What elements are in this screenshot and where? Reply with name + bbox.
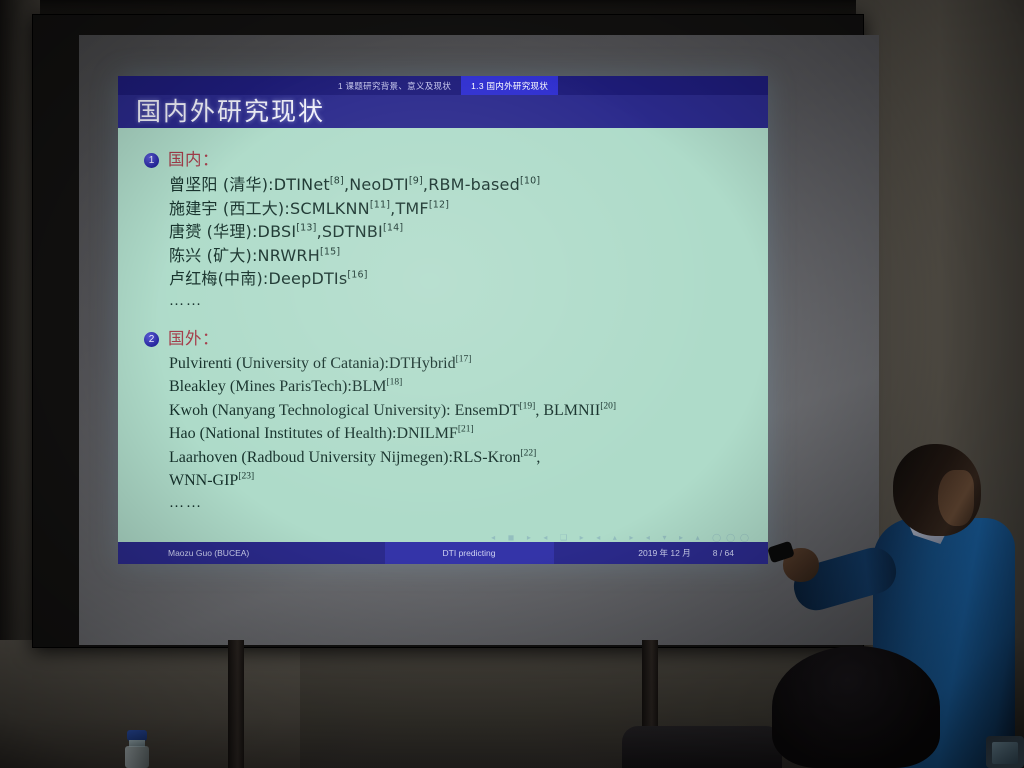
list-item: 施建宇 (西工大):SCMLKNN[11],TMF[12]	[169, 197, 748, 221]
projected-slide: 1 课题研究背景、意义及现状 1.3 国内外研究现状 国内外研究现状 1 国内：…	[118, 76, 768, 564]
nav-subsection-active[interactable]: 1.3 国内外研究现状	[461, 76, 558, 95]
water-bottle	[124, 730, 150, 768]
block-international-head: 2 国外：	[144, 329, 748, 349]
list-item: 唐赟 (华理):DBSI[13],SDTNBI[14]	[169, 220, 748, 244]
block-domestic-lines: 曾坚阳 (清华):DTINet[8],NeoDTI[9],RBM-based[1…	[144, 173, 748, 291]
audience-head-silhouette	[772, 646, 940, 768]
footer-date: 2019 年 12 月	[638, 547, 690, 559]
footer-right: 2019 年 12 月 8 / 64	[554, 547, 769, 559]
slide-title-bar: 国内外研究现状	[118, 95, 768, 128]
presenter-face	[938, 470, 974, 526]
footer-page-number: 8 / 64	[713, 548, 734, 558]
footer-author: Maozu Guo (BUCEA)	[118, 548, 385, 558]
lecture-room: 1 课题研究背景、意义及现状 1.3 国内外研究现状 国内外研究现状 1 国内：…	[0, 0, 1024, 768]
list-item: 陈兴 (矿大):NRWRH[15]	[169, 244, 748, 268]
chair-back	[622, 726, 782, 768]
footer-topic: DTI predicting	[385, 542, 554, 564]
page-title: 国内外研究现状	[118, 99, 325, 124]
list-item: 卢红梅(中南):DeepDTIs[16]	[169, 267, 748, 291]
list-item: Bleakley (Mines ParisTech):BLM[18]	[169, 375, 748, 399]
block-domestic-head: 1 国内：	[144, 150, 748, 170]
slide-body: 1 国内： 曾坚阳 (清华):DTINet[8],NeoDTI[9],RBM-b…	[118, 128, 768, 542]
block-international-ellipsis: ……	[144, 493, 748, 513]
block-domestic-ellipsis: ……	[144, 291, 748, 311]
beamer-navigation-icons[interactable]: ◂ ◼ ▸ ◂ ❑ ▸ ◂ ▴ ▸ ◂ ▾ ▸ ▴ ◯◯◯	[491, 533, 754, 542]
nav-section[interactable]: 1 课题研究背景、意义及现状	[328, 76, 461, 95]
list-item: Pulvirenti (University of Catania):DTHyb…	[169, 352, 748, 376]
list-marker-1: 1	[144, 153, 159, 168]
smartphone-screen	[992, 742, 1018, 764]
list-item: Laarhoven (Radboud University Nijmegen):…	[169, 446, 748, 470]
list-item: Hao (National Institutes of Health):DNIL…	[169, 422, 748, 446]
block-domestic: 1 国内： 曾坚阳 (清华):DTINet[8],NeoDTI[9],RBM-b…	[144, 150, 748, 311]
slide-footer: Maozu Guo (BUCEA) DTI predicting 2019 年 …	[118, 542, 768, 564]
list-marker-2: 2	[144, 332, 159, 347]
screen-leg-left	[228, 640, 244, 768]
bottle-body	[125, 746, 149, 768]
list-item: Kwoh (Nanyang Technological University):…	[169, 399, 748, 423]
block-international-lines: Pulvirenti (University of Catania):DTHyb…	[144, 352, 748, 493]
slide-navigation-band: 1 课题研究背景、意义及现状 1.3 国内外研究现状	[118, 76, 768, 95]
block-domestic-label: 国内：	[168, 150, 219, 170]
list-item: WNN-GIP[23]	[169, 469, 748, 493]
presenter-head	[893, 444, 981, 536]
list-item: 曾坚阳 (清华):DTINet[8],NeoDTI[9],RBM-based[1…	[169, 173, 748, 197]
block-international: 2 国外： Pulvirenti (University of Catania)…	[144, 329, 748, 513]
block-international-label: 国外：	[168, 329, 219, 349]
